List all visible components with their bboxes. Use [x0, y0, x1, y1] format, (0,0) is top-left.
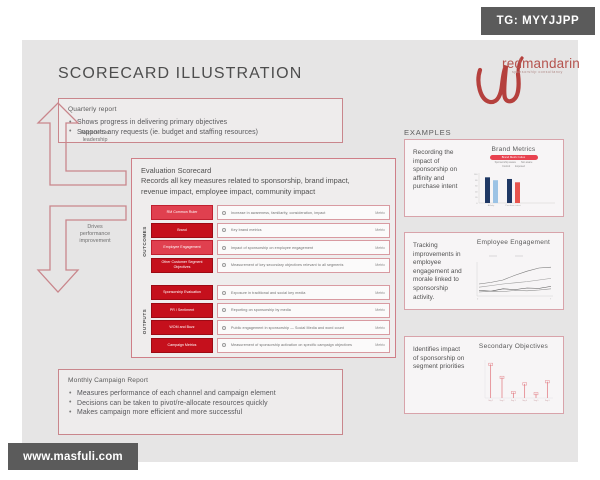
table-row: Sponsorship EvaluationExposure in tradit… — [151, 285, 390, 300]
list-item: Measures performance of each channel and… — [68, 389, 333, 399]
row-description-cell: Exposure in traditional and social key m… — [217, 285, 390, 300]
bullet-dot-icon — [222, 211, 226, 215]
row-description: Measurement of sponsorship activation on… — [231, 343, 375, 347]
chart-legend-2: Control Exposed — [469, 165, 558, 168]
row-description-cell: Measurement of key secondary objectives … — [217, 258, 390, 273]
logo-tagline: sponsorship consultancy — [512, 70, 563, 74]
secondary-chart-svg: Seg 1Seg 2Seg 3Seg 4Seg 5Seg 6 — [469, 352, 557, 410]
row-category: RM Common Ruler — [151, 205, 213, 220]
svg-text:100: 100 — [474, 174, 478, 176]
chart-title: Secondary Objectives — [469, 343, 558, 350]
row-description: Reporting on sponsorship by media — [231, 308, 375, 312]
table-row: Employee EngagementImpact of sponsorship… — [151, 240, 390, 255]
screenshot-root: TG: MYYJJPP SCORECARD ILLUSTRATION redma… — [0, 0, 600, 480]
group-label-outputs: OUTPUTS — [139, 285, 150, 357]
chart-title: Employee Engagement — [469, 239, 558, 246]
evaluation-scorecard-panel: Evaluation Scorecard Records all key mea… — [131, 158, 396, 358]
svg-text:Seg 4: Seg 4 — [522, 400, 527, 402]
scorecard-rows-outputs: Sponsorship EvaluationExposure in tradit… — [151, 285, 390, 355]
drives-performance-arrow: Drives performance improvement — [34, 198, 130, 306]
svg-text:Seg 1: Seg 1 — [488, 400, 493, 402]
row-description: Impact of sponsorship on employee engage… — [231, 246, 375, 250]
svg-text:Seg 3: Seg 3 — [511, 400, 516, 402]
row-metric: Metric — [375, 246, 385, 250]
example-card-brand-metrics: Recording the impact of sponsorship on a… — [404, 139, 564, 217]
monthly-report-title: Monthly Campaign Report — [68, 377, 333, 384]
row-description-cell: Impact of sponsorship on employee engage… — [217, 240, 390, 255]
arrow-down-icon — [34, 198, 130, 306]
bar-chart-svg: 020406080100AffinityPurchase intent — [469, 169, 557, 209]
bullet-dot-icon — [222, 246, 226, 250]
example-card-secondary-objectives: Identifies impact of sponsorship on segm… — [404, 336, 564, 414]
redmandarin-logo: redmandarin sponsorship consultancy — [474, 48, 574, 110]
row-metric: Metric — [375, 228, 385, 232]
row-description: Exposure in traditional and social key m… — [231, 291, 375, 295]
bullet-dot-icon — [222, 308, 226, 312]
example-text: Recording the impact of sponsorship on a… — [413, 149, 466, 192]
list-item: Decisions can be taken to pivot/re-alloc… — [68, 399, 333, 409]
arrow-up-icon — [34, 97, 130, 197]
svg-text:Affinity: Affinity — [488, 204, 495, 207]
svg-text:40: 40 — [475, 191, 478, 193]
row-metric: Metric — [375, 291, 385, 295]
example-text: Tracking improvements in employee engage… — [413, 242, 466, 302]
legend-item: Control — [502, 165, 510, 168]
table-row: RM Common RulerIncrease in awareness, fa… — [151, 205, 390, 220]
row-metric: Metric — [375, 326, 385, 330]
row-metric: Metric — [375, 211, 385, 215]
table-row: WOM and BuzzPublic engagement in sponsor… — [151, 320, 390, 335]
row-category: Brand — [151, 223, 213, 238]
list-item: Makes campaign more efficient and more s… — [68, 408, 333, 418]
reported-to-leadership-arrow: Reported to leadership — [34, 97, 130, 197]
row-description: Increase in awareness, familiarity, cons… — [231, 211, 375, 215]
row-category: Other Customer Segment Objectives — [151, 258, 213, 273]
arrow-down-label: Drives performance improvement — [72, 224, 118, 245]
bullet-dot-icon — [222, 263, 226, 267]
row-category: Campaign Metrics — [151, 338, 213, 353]
scorecard-heading: Evaluation Scorecard — [141, 166, 386, 175]
tg-watermark: TG: MYYJJPP — [481, 7, 595, 35]
presentation-slide: SCORECARD ILLUSTRATION redmandarin spons… — [22, 40, 578, 462]
svg-text:Seg 2: Seg 2 — [500, 400, 505, 402]
legend-item: Exposed — [515, 165, 525, 168]
row-description-cell: Reporting on sponsorship by mediaMetric — [217, 303, 390, 318]
svg-text:Purchase intent: Purchase intent — [505, 204, 521, 207]
chart-legend: Sponsorship aware Not aware — [469, 161, 558, 164]
svg-text:20: 20 — [475, 197, 478, 199]
chart-pill-label: Brand Metric Index — [490, 155, 538, 160]
legend-item: Not aware — [521, 161, 532, 164]
group-label-outcomes: OUTCOMES — [139, 205, 150, 277]
scorecard-header: Evaluation Scorecard Records all key mea… — [132, 159, 395, 197]
table-row: PR / SentimentReporting on sponsorship b… — [151, 303, 390, 318]
secondary-objectives-chart: Secondary Objectives Seg 1Seg 2Seg 3Seg … — [469, 343, 558, 409]
row-category: Sponsorship Evaluation — [151, 285, 213, 300]
masfuli-watermark: www.masfuli.com — [8, 443, 138, 470]
chart-title: Brand Metrics — [469, 146, 558, 153]
scorecard-group-outputs: OUTPUTS Sponsorship EvaluationExposure i… — [139, 285, 390, 357]
svg-text:0: 0 — [476, 203, 478, 205]
scorecard-subheading-1: Records all key measures related to spon… — [141, 176, 386, 186]
group-label-text: OUTCOMES — [142, 226, 147, 257]
page-title: SCORECARD ILLUSTRATION — [58, 65, 302, 83]
scorecard-subheading-2: revenue impact, employee impact, communi… — [141, 187, 386, 197]
row-description-cell: Measurement of sponsorship activation on… — [217, 338, 390, 353]
svg-text:Seg 6: Seg 6 — [545, 400, 550, 402]
bullet-dot-icon — [222, 228, 226, 232]
bullet-dot-icon — [222, 326, 226, 330]
brand-metrics-chart: Brand Metrics Brand Metric Index Sponsor… — [469, 146, 558, 212]
row-metric: Metric — [375, 343, 385, 347]
row-description-cell: Public engagement in sponsorship — Socia… — [217, 320, 390, 335]
arrow-up-label: Reported to leadership — [72, 130, 118, 144]
svg-text:0: 0 — [477, 299, 479, 301]
row-category: PR / Sentiment — [151, 303, 213, 318]
table-row: Campaign MetricsMeasurement of sponsorsh… — [151, 338, 390, 353]
svg-text:80: 80 — [475, 180, 478, 182]
group-label-text: OUTPUTS — [142, 308, 147, 333]
row-category: WOM and Buzz — [151, 320, 213, 335]
bullet-dot-icon — [222, 291, 226, 295]
bullet-dot-icon — [222, 343, 226, 347]
employee-engagement-chart: Employee Engagement 07 — [469, 239, 558, 305]
row-metric: Metric — [375, 263, 385, 267]
row-description: Key brand metrics — [231, 228, 375, 232]
svg-text:Seg 5: Seg 5 — [534, 400, 539, 402]
row-description: Measurement of key secondary objectives … — [231, 263, 375, 267]
example-text: Identifies impact of sponsorship on segm… — [413, 346, 466, 372]
line-chart-svg: 07 — [469, 248, 557, 306]
scorecard-group-outcomes: OUTCOMES RM Common RulerIncrease in awar… — [139, 205, 390, 277]
row-metric: Metric — [375, 308, 385, 312]
monthly-campaign-report-box: Monthly Campaign Report Measures perform… — [58, 369, 343, 435]
table-row: Other Customer Segment ObjectivesMeasure… — [151, 258, 390, 273]
legend-item: Sponsorship aware — [495, 161, 516, 164]
scorecard-rows-outcomes: RM Common RulerIncrease in awareness, fa… — [151, 205, 390, 275]
logo-wordmark: redmandarin — [502, 56, 580, 71]
monthly-report-bullets: Measures performance of each channel and… — [68, 389, 333, 418]
examples-heading: EXAMPLES — [404, 128, 451, 137]
row-description: Public engagement in sponsorship — Socia… — [231, 326, 375, 330]
svg-text:60: 60 — [475, 186, 478, 188]
row-description-cell: Increase in awareness, familiarity, cons… — [217, 205, 390, 220]
row-description-cell: Key brand metricsMetric — [217, 223, 390, 238]
table-row: BrandKey brand metricsMetric — [151, 223, 390, 238]
example-card-employee-engagement: Tracking improvements in employee engage… — [404, 232, 564, 310]
svg-text:7: 7 — [550, 299, 552, 301]
row-category: Employee Engagement — [151, 240, 213, 255]
